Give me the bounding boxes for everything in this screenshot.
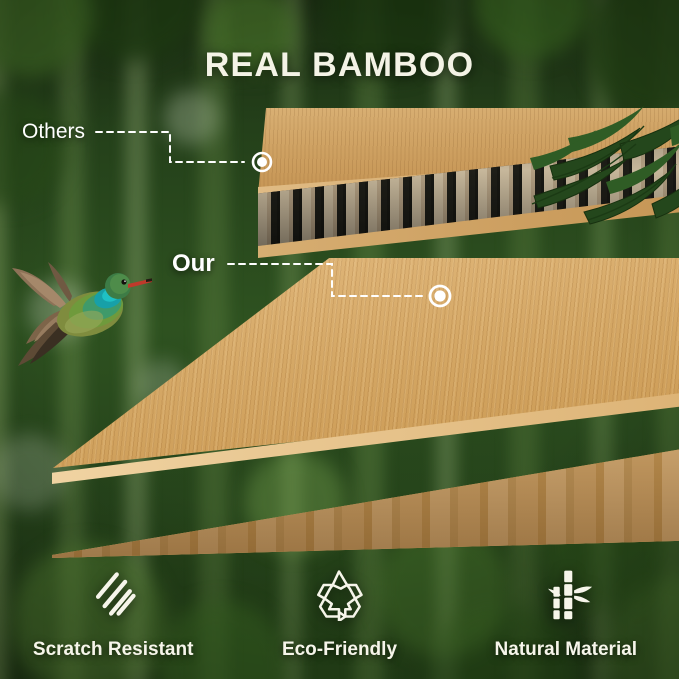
feature-label: Scratch Resistant: [33, 639, 194, 661]
hummingbird-icon: [4, 248, 152, 376]
feature-eco-friendly: Eco-Friendly: [227, 563, 451, 661]
callout-our-leader: [172, 250, 472, 320]
feature-label: Natural Material: [495, 639, 638, 661]
board-others-honeycomb: [258, 108, 679, 248]
feature-list: Scratch Resistant Eco-Friendly: [0, 551, 679, 661]
feature-natural-material: Natural Material: [454, 563, 678, 661]
recycle-icon: [311, 563, 367, 625]
feature-label: Eco-Friendly: [282, 639, 397, 661]
feature-scratch-resistant: Scratch Resistant: [1, 563, 225, 661]
page-title: REAL BAMBOO: [0, 46, 679, 85]
scratch-lines-icon: [85, 563, 141, 625]
bamboo-stalk-icon: [538, 563, 594, 625]
callout-others-leader: [22, 120, 282, 190]
bamboo-leaves-icon: [524, 100, 679, 245]
product-feature-image: REAL BAMBOO: [0, 0, 679, 679]
